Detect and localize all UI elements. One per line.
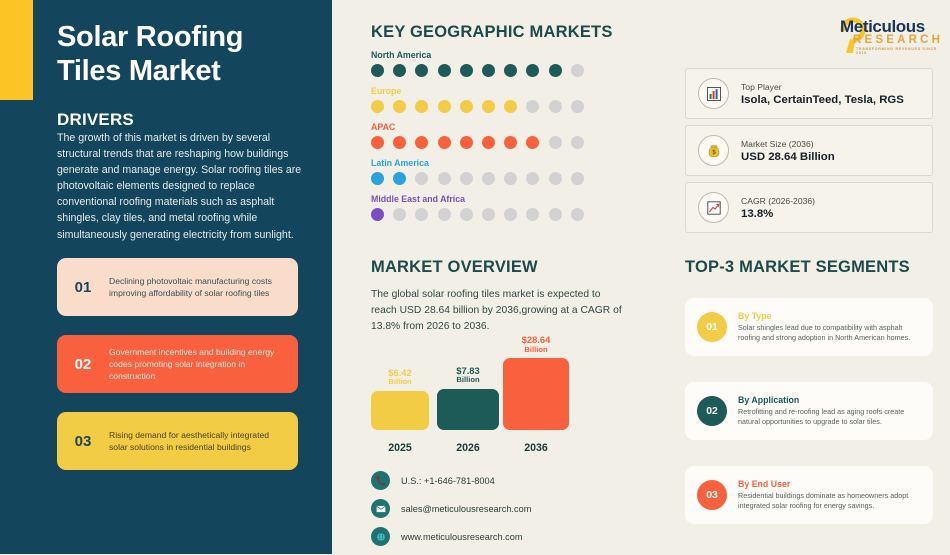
market-size-bar-chart: $6.42Billion2025$7.83Billion2026$28.64Bi…	[371, 336, 631, 456]
dot-empty	[460, 208, 473, 221]
dot-filled	[482, 136, 495, 149]
geo-region-label: North America	[371, 50, 621, 60]
driver-card-1: 01 Declining photovoltaic manufacturing …	[57, 258, 298, 316]
geo-dot-scale	[371, 100, 621, 113]
geographic-markets-title: KEY GEOGRAPHIC MARKETS	[371, 23, 613, 42]
logo-tagline: TRANSFORMING REVENUES SINCE 2010	[856, 47, 939, 55]
drivers-heading: DRIVERS	[57, 110, 134, 130]
stat-card-market-size: $ Market Size (2036) USD 28.64 Billion	[685, 125, 933, 176]
segment-number: 01	[697, 312, 727, 342]
segment-card-3: 03 By End User Residential buildings dom…	[685, 466, 933, 524]
segment-number: 02	[697, 396, 727, 426]
geo-row-4: Latin America	[371, 158, 621, 185]
stat-value: USD 28.64 Billion	[741, 151, 835, 163]
dot-filled	[438, 64, 451, 77]
page-title: Solar Roofing Tiles Market	[57, 20, 312, 88]
phone-icon	[371, 471, 390, 490]
geographic-markets-list: North AmericaEuropeAPACLatin AmericaMidd…	[371, 50, 621, 230]
stat-key: CAGR (2026-2036)	[741, 196, 815, 206]
contact-email-row[interactable]: sales@meticulousresearch.com	[371, 499, 531, 518]
segment-heading: By Type	[738, 311, 933, 321]
dot-empty	[549, 136, 562, 149]
driver-number: 02	[57, 356, 109, 373]
middle-column: KEY GEOGRAPHIC MARKETS North AmericaEuro…	[332, 0, 672, 554]
dot-filled	[482, 100, 495, 113]
geo-dot-scale	[371, 136, 621, 149]
contact-phone-label: U.S.: +1-646-781-8004	[401, 476, 495, 486]
driver-card-2: 02 Government incentives and building en…	[57, 335, 298, 393]
bar-unit-label: Billion	[456, 376, 479, 385]
dot-empty	[549, 100, 562, 113]
dot-empty	[393, 208, 406, 221]
dot-filled	[371, 208, 384, 221]
geo-row-3: APAC	[371, 122, 621, 149]
market-overview-text: The global solar roofing tiles market is…	[371, 287, 622, 335]
dot-empty	[571, 208, 584, 221]
bar	[371, 391, 429, 430]
dot-empty	[571, 100, 584, 113]
segment-body: Retrofitting and re-roofing lead as agin…	[738, 407, 933, 427]
segment-number: 03	[697, 480, 727, 510]
infographic-page: Solar Roofing Tiles Market DRIVERS The g…	[0, 0, 950, 554]
globe-icon	[371, 527, 390, 546]
dot-empty	[504, 208, 517, 221]
driver-text: Declining photovoltaic manufacturing cos…	[109, 275, 298, 299]
driver-number: 03	[57, 433, 109, 450]
accent-bar	[0, 0, 33, 100]
bar-value-label: $28.64Billion	[522, 335, 551, 354]
growth-chart-icon	[698, 192, 729, 223]
dot-filled	[393, 64, 406, 77]
dot-filled	[371, 136, 384, 149]
dot-filled	[460, 100, 473, 113]
bar-chart-icon	[698, 78, 729, 109]
dot-empty	[438, 208, 451, 221]
dot-empty	[482, 208, 495, 221]
dot-empty	[415, 208, 428, 221]
dot-empty	[438, 172, 451, 185]
dot-filled	[415, 100, 428, 113]
driver-card-3: 03 Rising demand for aesthetically integ…	[57, 412, 298, 470]
bar-category-label: 2025	[371, 442, 429, 454]
dot-filled	[504, 136, 517, 149]
dot-filled	[371, 64, 384, 77]
bar-group-2025: $6.42Billion	[371, 368, 429, 430]
contact-email-label: sales@meticulousresearch.com	[401, 504, 531, 514]
contact-website-row[interactable]: www.meticulousresearch.com	[371, 527, 531, 546]
bar-value-label: $7.83Billion	[456, 366, 479, 385]
bar-category-label: 2026	[437, 442, 499, 454]
dot-filled	[371, 172, 384, 185]
bar-value-label: $6.42Billion	[388, 368, 411, 387]
stat-key: Top Player	[741, 82, 904, 92]
dot-filled	[438, 100, 451, 113]
dot-filled	[549, 64, 562, 77]
segment-body: Solar shingles lead due to compatibility…	[738, 323, 933, 343]
left-panel: Solar Roofing Tiles Market DRIVERS The g…	[0, 0, 332, 554]
dot-filled	[460, 136, 473, 149]
dot-filled	[371, 100, 384, 113]
dot-empty	[571, 172, 584, 185]
dot-empty	[504, 172, 517, 185]
dot-filled	[504, 64, 517, 77]
dot-filled	[460, 64, 473, 77]
segment-body: Residential buildings dominate as homeow…	[738, 491, 933, 511]
bar	[503, 358, 569, 430]
geo-dot-scale	[371, 172, 621, 185]
bar-group-2026: $7.83Billion	[437, 366, 499, 431]
stat-key: Market Size (2036)	[741, 139, 835, 149]
bar-unit-label: Billion	[522, 346, 551, 355]
stat-value: Isola, CertainTeed, Tesla, RGS	[741, 94, 904, 106]
dot-filled	[415, 64, 428, 77]
dot-empty	[460, 172, 473, 185]
segment-card-2: 02 By Application Retrofitting and re-ro…	[685, 382, 933, 440]
dot-filled	[526, 136, 539, 149]
geo-dot-scale	[371, 64, 621, 77]
dot-empty	[549, 172, 562, 185]
dot-empty	[526, 100, 539, 113]
dot-empty	[549, 208, 562, 221]
bar-category-label: 2036	[503, 442, 569, 454]
bar	[437, 389, 499, 430]
market-overview-title: MARKET OVERVIEW	[371, 258, 538, 277]
contact-website-label: www.meticulousresearch.com	[401, 532, 523, 542]
stat-card-top-player: Top Player Isola, CertainTeed, Tesla, RG…	[685, 68, 933, 119]
geo-row-5: Middle East and Africa	[371, 194, 621, 221]
dot-empty	[526, 172, 539, 185]
segment-heading: By End User	[738, 479, 933, 489]
geo-dot-scale	[371, 208, 621, 221]
dot-empty	[526, 208, 539, 221]
contact-block: U.S.: +1-646-781-8004 sales@meticulousre…	[371, 471, 531, 555]
bar-unit-label: Billion	[388, 378, 411, 387]
dot-filled	[415, 136, 428, 149]
dot-filled	[393, 136, 406, 149]
driver-number: 01	[57, 279, 109, 296]
dot-filled	[393, 172, 406, 185]
geo-region-label: Europe	[371, 86, 621, 96]
dot-empty	[571, 64, 584, 77]
stat-card-cagr: CAGR (2026-2036) 13.8%	[685, 182, 933, 233]
geo-row-1: North America	[371, 50, 621, 77]
dot-filled	[482, 64, 495, 77]
geo-region-label: Latin America	[371, 158, 621, 168]
bar-group-2036: $28.64Billion	[503, 335, 569, 430]
geo-row-2: Europe	[371, 86, 621, 113]
right-column: Meticulous RESEARCH TRANSFORMING REVENUE…	[672, 0, 950, 554]
money-bag-icon: $	[698, 135, 729, 166]
segment-card-1: 01 By Type Solar shingles lead due to co…	[685, 298, 933, 356]
dot-filled	[438, 136, 451, 149]
geo-region-label: APAC	[371, 122, 621, 132]
dot-filled	[526, 64, 539, 77]
stat-value: 13.8%	[741, 208, 815, 220]
drivers-description: The growth of this market is driven by s…	[57, 130, 313, 243]
dot-empty	[415, 172, 428, 185]
segment-heading: By Application	[738, 395, 933, 405]
driver-text: Government incentives and building energ…	[109, 346, 298, 383]
envelope-icon	[371, 499, 390, 518]
dot-empty	[482, 172, 495, 185]
company-logo: Meticulous RESEARCH TRANSFORMING REVENUE…	[831, 14, 939, 56]
contact-phone-row[interactable]: U.S.: +1-646-781-8004	[371, 471, 531, 490]
market-segments-title: TOP-3 MARKET SEGMENTS	[685, 258, 910, 277]
logo-research-text: RESEARCH	[853, 34, 943, 46]
dot-empty	[571, 136, 584, 149]
driver-text: Rising demand for aesthetically integrat…	[109, 429, 298, 453]
geo-region-label: Middle East and Africa	[371, 194, 621, 204]
dot-filled	[504, 100, 517, 113]
dot-filled	[393, 100, 406, 113]
